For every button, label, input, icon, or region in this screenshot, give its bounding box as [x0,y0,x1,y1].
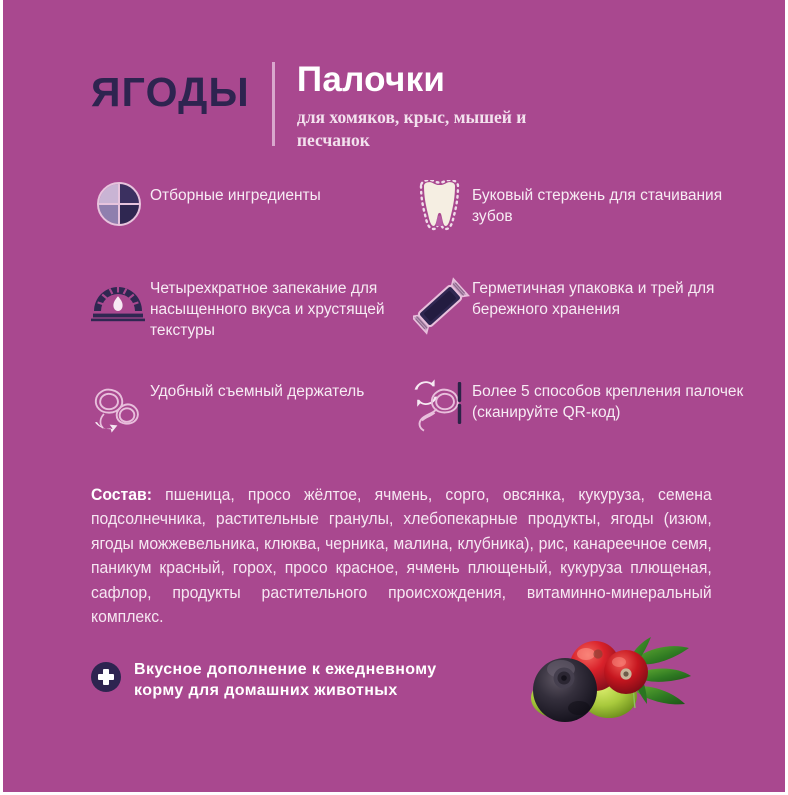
feature-row: Четырехкратное запекание для насыщенного… [91,275,751,378]
product-title: Палочки [297,62,567,99]
holder-mount-cycle-icon [413,378,477,438]
refresh-cycle-icon [415,379,438,406]
feature-item-sealed-packaging: Герметичная упаковка и трей для бережног… [413,275,751,378]
feature-label: Более 5 способов крепления палочек (скан… [469,378,751,424]
header-divider [272,62,275,146]
removable-holder-icon [91,378,153,438]
feature-label: Четырехкратное запекание для насыщенного… [147,275,413,342]
callout-banner: Вкусное дополнение к ежедневному корму д… [91,658,521,702]
callout-text: Вкусное дополнение к ежедневному корму д… [121,658,437,702]
label-header: ЯГОДЫ Палочки для хомяков, крыс, мышей и… [91,62,651,167]
feature-item-mounting-options: Более 5 способов крепления палочек (скан… [413,378,751,453]
composition-label: Состав: [91,486,152,504]
tooth-icon [415,180,469,232]
feature-row: Удобный съемный держатель [91,378,751,453]
title-block: Палочки для хомяков, крыс, мышей и песча… [297,62,567,151]
feature-item-selected-ingredients: Отборные ингредиенты [91,182,413,275]
oven-icon [91,275,149,325]
feature-label: Отборные ингредиенты [147,182,321,207]
mount-bar-top [458,382,461,402]
holder-outline [420,390,458,431]
composition-body: пшеница, просо жёлтое, ячмень, сорго, ов… [91,486,712,626]
berries-photo [513,634,693,736]
feature-row: Отборные ингредиенты Буковый стержень дл… [91,182,751,275]
product-subtitle: для хомяков, крыс, мышей и песчанок [297,106,567,152]
feature-icon-slot [91,182,147,234]
composition-paragraph: Состав: пшеница, просо жёлтое, ячмень, с… [91,483,712,629]
feature-icon-slot [91,378,147,430]
feature-label: Удобный съемный держатель [147,378,364,403]
feature-label: Буковый стержень для стачивания зубов [469,182,751,228]
product-label-panel: ЯГОДЫ Палочки для хомяков, крыс, мышей и… [3,0,785,792]
feature-icon-slot [413,378,469,430]
feature-item-quadruple-baking: Четырехкратное запекание для насыщенного… [91,275,413,378]
feature-list: Отборные ингредиенты Буковый стержень дл… [91,182,751,453]
feature-label: Герметичная упаковка и трей для бережног… [469,275,751,321]
sealed-package-icon [413,275,471,337]
feature-icon-slot [413,182,469,234]
callout-line-2: корму для домашних животных [134,680,437,701]
feature-icon-slot [413,275,469,327]
feature-icon-slot [91,275,147,327]
feature-item-removable-holder: Удобный съемный держатель [91,378,413,453]
quadrant-circle-icon [97,182,141,226]
feature-item-beech-rod: Буковый стержень для стачивания зубов [413,182,751,275]
mount-bar-bottom [458,404,461,424]
callout-line-1: Вкусное дополнение к ежедневному [134,659,437,680]
brand-name: ЯГОДЫ [91,62,250,113]
plus-circle-icon [91,662,121,692]
